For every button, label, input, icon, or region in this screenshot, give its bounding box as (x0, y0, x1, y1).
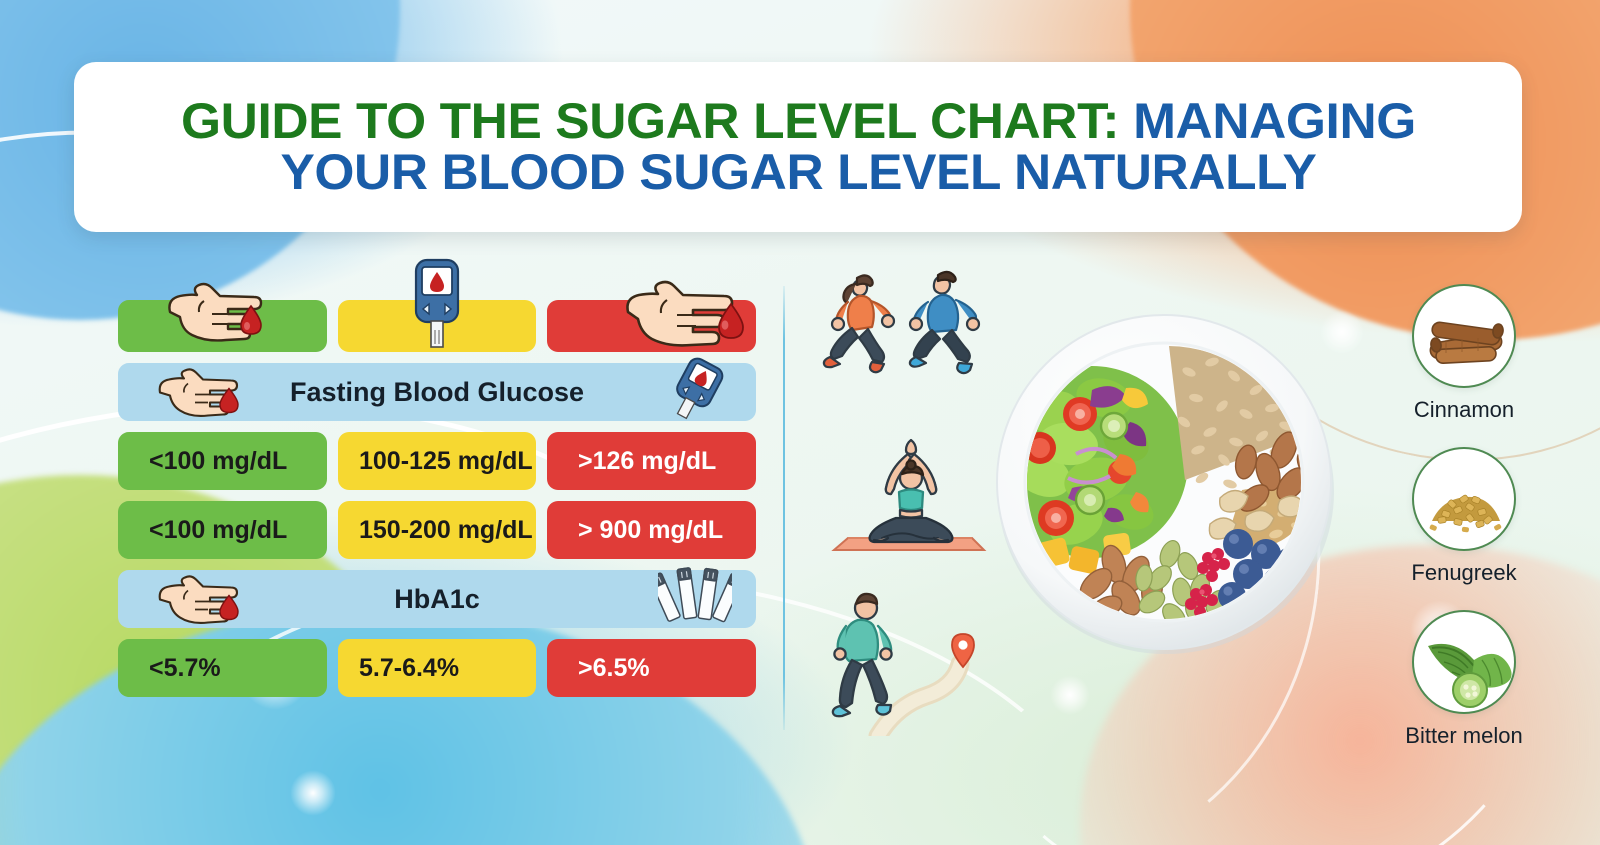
value-cell-diabetes: >126 mg/dL (547, 432, 756, 490)
pointing-hand-blood-drop-icon (154, 568, 240, 631)
yoga-pose-illustration (816, 434, 1006, 574)
glucose-meter-icon (664, 357, 728, 428)
section-header-label: HbA1c (394, 584, 480, 615)
fenugreek-seeds-icon (1412, 447, 1516, 551)
glucose-meter-icon (404, 256, 470, 359)
section-header-label: Fasting Blood Glucose (290, 377, 584, 408)
page-title-line2: YOUR BLOOD SUGAR LEVEL NATURALLY (280, 144, 1316, 200)
list-item-label: Cinnamon (1370, 397, 1558, 423)
list-item[interactable]: Cinnamon (1370, 284, 1558, 423)
table-row: <100 mg/dL 150-200 mg/dL > 900 mg/dL (118, 501, 756, 559)
value-cell-normal: <5.7% (118, 639, 327, 697)
test-strips-icon (658, 567, 732, 632)
glow-dot-2 (290, 770, 336, 816)
value-cell-diabetes: >6.5% (547, 639, 756, 697)
title-card: GUIDE TO THE SUGAR LEVEL CHART: MANAGING… (74, 62, 1522, 232)
healthy-food-plate-image (984, 302, 1344, 662)
value-cell-diabetes: > 900 mg/dL (547, 501, 756, 559)
icon-cell-prediabetes (338, 300, 536, 352)
page-title-line1-green: GUIDE TO THE SUGAR LEVEL CHART: (181, 93, 1119, 149)
page-title-line1-blue: MANAGING (1133, 93, 1416, 149)
value-cell-prediabetes: 5.7-6.4% (338, 639, 536, 697)
glow-dot-5 (1050, 675, 1090, 715)
icon-cell-diabetes (547, 300, 756, 352)
list-item-label: Bitter melon (1370, 723, 1558, 749)
pointing-hand-blood-drop-icon (154, 361, 240, 424)
table-row: <5.7% 5.7-6.4% >6.5% (118, 639, 756, 697)
cinnamon-sticks-icon (1412, 284, 1516, 388)
list-item[interactable]: Bitter melon (1370, 610, 1558, 749)
running-couple-illustration (816, 268, 1006, 418)
value-cell-prediabetes: 100-125 mg/dL (338, 432, 536, 490)
icon-cell-normal (118, 300, 327, 352)
table-row: <100 mg/dL 100-125 mg/dL >126 mg/dL (118, 432, 756, 490)
pointing-hand-blood-drop-icon (162, 274, 266, 351)
natural-remedies-list: Cinnamon (1370, 284, 1558, 773)
exercise-illustrations (816, 268, 1006, 736)
walking-person-illustration (816, 586, 1006, 736)
section-divider (783, 286, 785, 730)
page-title: GUIDE TO THE SUGAR LEVEL CHART: MANAGING… (181, 96, 1416, 199)
pointing-hand-blood-drop-icon (620, 270, 746, 355)
value-cell-prediabetes: 150-200 mg/dL (338, 501, 536, 559)
list-item[interactable]: Fenugreek (1370, 447, 1558, 586)
value-cell-normal: <100 mg/dL (118, 432, 327, 490)
list-item-label: Fenugreek (1370, 560, 1558, 586)
value-cell-normal: <100 mg/dL (118, 501, 327, 559)
sugar-level-chart-table: Fasting Blood Glucose <100 mg/dL 100-125… (118, 300, 756, 708)
section-header-fasting-blood-glucose: Fasting Blood Glucose (118, 363, 756, 421)
section-header-hba1c: HbA1c (118, 570, 756, 628)
table-icon-row (118, 300, 756, 352)
bitter-melon-icon (1412, 610, 1516, 714)
